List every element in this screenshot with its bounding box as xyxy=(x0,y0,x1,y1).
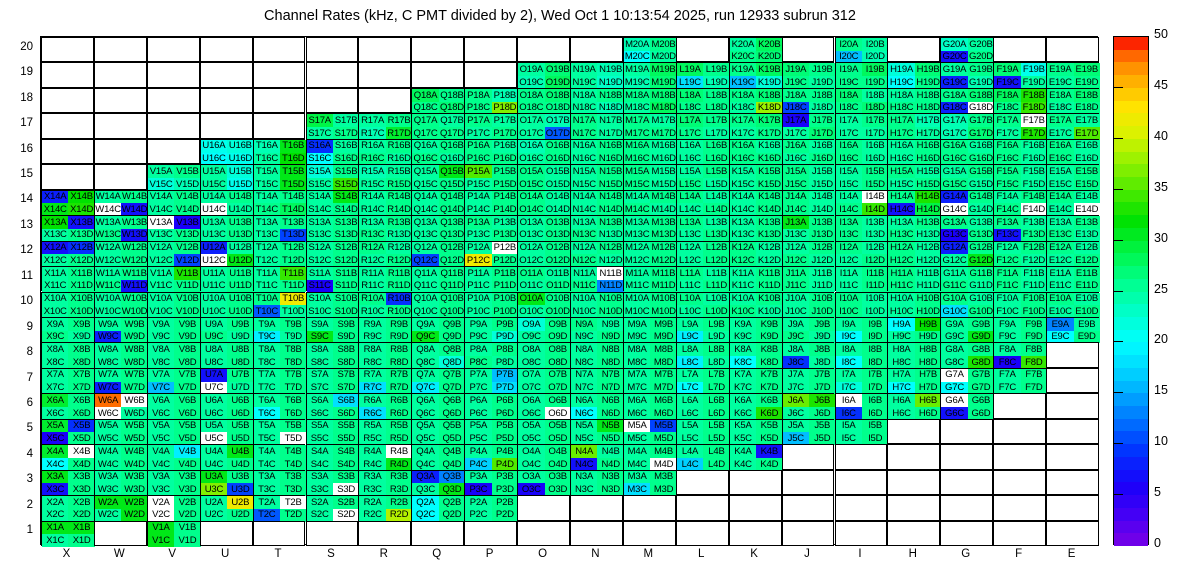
heatmap-subcell[interactable]: J5A xyxy=(783,420,809,433)
heatmap-subcell[interactable]: R12B xyxy=(386,242,412,255)
heatmap-subcell[interactable]: X13A xyxy=(42,216,68,229)
heatmap-subcell[interactable]: T8B xyxy=(280,343,306,356)
heatmap-subcell[interactable]: H18B xyxy=(915,89,941,102)
heatmap-subcell[interactable]: I18B xyxy=(862,89,888,102)
heatmap-tile[interactable]: N6AN6BN6CN6D xyxy=(570,393,623,418)
heatmap-subcell[interactable]: X5A xyxy=(42,420,68,433)
heatmap-subcell[interactable]: F13A xyxy=(994,216,1020,229)
heatmap-subcell[interactable]: G12A xyxy=(941,242,967,255)
heatmap-subcell[interactable]: U3B xyxy=(227,471,253,484)
heatmap-subcell[interactable]: E15A xyxy=(1047,165,1073,178)
heatmap-tile[interactable]: J8AJ8BJ8CJ8D xyxy=(782,342,835,367)
heatmap-subcell[interactable]: E16A xyxy=(1047,140,1073,153)
heatmap-subcell[interactable]: X4A xyxy=(42,445,68,458)
heatmap-subcell[interactable]: M10B xyxy=(650,293,676,306)
heatmap-tile[interactable]: V6AV6BV6CV6D xyxy=(147,393,200,418)
heatmap-subcell[interactable]: S5A xyxy=(307,420,333,433)
heatmap-tile[interactable]: L14AL14BL14CL14D xyxy=(676,190,729,215)
heatmap-tile[interactable]: G10AG10BG10CG10D xyxy=(940,292,993,317)
heatmap-subcell[interactable]: H10B xyxy=(915,293,941,306)
heatmap-subcell[interactable]: S14B xyxy=(333,191,359,204)
heatmap-tile[interactable]: H10AH10BH10CH10D xyxy=(887,292,940,317)
heatmap-subcell[interactable]: O14A xyxy=(518,191,544,204)
heatmap-tile[interactable]: K17AK17BK17CK17D xyxy=(729,113,782,138)
heatmap-tile[interactable]: Q9AQ9BQ9CQ9D xyxy=(411,317,464,342)
heatmap-tile[interactable]: E17AE17BE17CE17D xyxy=(1046,113,1099,138)
heatmap-subcell[interactable]: T10A xyxy=(254,293,280,306)
heatmap-subcell[interactable]: S14A xyxy=(307,191,333,204)
heatmap-tile[interactable]: U3AU3BU3CU3D xyxy=(200,470,253,495)
heatmap-subcell[interactable]: S15A xyxy=(307,165,333,178)
heatmap-subcell[interactable]: G14A xyxy=(941,191,967,204)
heatmap-tile[interactable]: Q5AQ5BQ5CQ5D xyxy=(411,419,464,444)
heatmap-subcell[interactable]: N16A xyxy=(571,140,597,153)
heatmap-tile[interactable]: W12AW12BW12CW12D xyxy=(94,241,147,266)
heatmap-subcell[interactable]: M11B xyxy=(650,267,676,280)
heatmap-subcell[interactable]: L16A xyxy=(677,140,703,153)
heatmap-subcell[interactable]: J19A xyxy=(783,63,809,76)
heatmap-subcell[interactable]: W2A xyxy=(95,496,121,509)
heatmap-subcell[interactable]: S17A xyxy=(307,114,333,127)
heatmap-subcell[interactable]: V8A xyxy=(148,343,174,356)
heatmap-subcell[interactable]: O10B xyxy=(545,293,571,306)
heatmap-subcell[interactable]: S8A xyxy=(307,343,333,356)
heatmap-subcell[interactable]: K10B xyxy=(756,293,782,306)
heatmap-subcell[interactable]: V14B xyxy=(174,191,200,204)
heatmap-subcell[interactable]: O5A xyxy=(518,420,544,433)
heatmap-tile[interactable]: H7AH7BH7CH7D xyxy=(887,368,940,393)
heatmap-subcell[interactable]: V8B xyxy=(174,343,200,356)
heatmap-subcell[interactable]: H14B xyxy=(915,191,941,204)
heatmap-subcell[interactable]: H13B xyxy=(915,216,941,229)
heatmap-tile[interactable]: U7AU7BU7CU7D xyxy=(200,368,253,393)
heatmap-tile[interactable]: U14AU14BU14CU14D xyxy=(200,190,253,215)
heatmap-tile[interactable]: P13AP13BP13CP13D xyxy=(464,215,517,240)
heatmap-tile[interactable]: X13AX13BX13CX13D xyxy=(41,215,94,240)
heatmap-subcell[interactable]: X6A xyxy=(42,394,68,407)
heatmap-tile[interactable]: O6AO6BO6CO6D xyxy=(517,393,570,418)
heatmap-subcell[interactable]: G12B xyxy=(968,242,994,255)
heatmap-subcell[interactable]: M17B xyxy=(650,114,676,127)
heatmap-subcell[interactable]: I20B xyxy=(862,38,888,51)
heatmap-subcell[interactable]: Q10A xyxy=(412,293,438,306)
heatmap-tile[interactable]: S9AS9BS9CS9D xyxy=(306,317,359,342)
heatmap-subcell[interactable]: U5B xyxy=(227,420,253,433)
heatmap-subcell[interactable]: F19A xyxy=(994,63,1020,76)
heatmap-subcell[interactable]: M15A xyxy=(624,165,650,178)
heatmap-tile[interactable]: K18AK18BK18CK18D xyxy=(729,88,782,113)
heatmap-subcell[interactable]: W3B xyxy=(121,471,147,484)
heatmap-tile[interactable]: Q10AQ10BQ10CQ10D xyxy=(411,292,464,317)
heatmap-tile[interactable]: J9AJ9BJ9CJ9D xyxy=(782,317,835,342)
heatmap-subcell[interactable]: R4B xyxy=(386,445,412,458)
heatmap-subcell[interactable]: K15B xyxy=(756,165,782,178)
heatmap-subcell[interactable]: P4B xyxy=(492,445,518,458)
heatmap-tile[interactable]: M4AM4BM4CM4D xyxy=(623,444,676,469)
heatmap-subcell[interactable]: E10A xyxy=(1047,293,1073,306)
heatmap-subcell[interactable]: V12A xyxy=(148,242,174,255)
heatmap-tile[interactable]: P6AP6BP6CP6D xyxy=(464,393,517,418)
heatmap-subcell[interactable]: S10B xyxy=(333,293,359,306)
heatmap-subcell[interactable]: V6A xyxy=(148,394,174,407)
heatmap-subcell[interactable]: R14A xyxy=(359,191,385,204)
heatmap-tile[interactable]: M3AM3BM3CM3D xyxy=(623,470,676,495)
heatmap-subcell[interactable]: I19A xyxy=(836,63,862,76)
heatmap-subcell[interactable]: S7B xyxy=(333,369,359,382)
heatmap-tile[interactable]: X3AX3BX3CX3D xyxy=(41,470,94,495)
heatmap-tile[interactable]: N16AN16BN16CN16D xyxy=(570,139,623,164)
heatmap-subcell[interactable]: X2B xyxy=(68,496,94,509)
heatmap-tile[interactable]: R12AR12BR12CR12D xyxy=(358,241,411,266)
heatmap-subcell[interactable]: E14A xyxy=(1047,191,1073,204)
heatmap-subcell[interactable]: U4A xyxy=(201,445,227,458)
heatmap-subcell[interactable]: P17B xyxy=(492,114,518,127)
heatmap-subcell[interactable]: X8B xyxy=(68,343,94,356)
heatmap-tile[interactable]: M16AM16BM16CM16D xyxy=(623,139,676,164)
heatmap-subcell[interactable]: I10B xyxy=(862,293,888,306)
heatmap-subcell[interactable]: J16A xyxy=(783,140,809,153)
heatmap-tile[interactable]: G8AG8BG8CG8D xyxy=(940,342,993,367)
heatmap-tile[interactable]: X9AX9BX9CX9D xyxy=(41,317,94,342)
heatmap-subcell[interactable]: O12A xyxy=(518,242,544,255)
heatmap-subcell[interactable]: N18B xyxy=(597,89,623,102)
heatmap-tile[interactable]: W4AW4BW4CW4D xyxy=(94,444,147,469)
heatmap-subcell[interactable]: T3A xyxy=(254,471,280,484)
heatmap-subcell[interactable]: Q3B xyxy=(439,471,465,484)
heatmap-subcell[interactable]: W3A xyxy=(95,471,121,484)
heatmap-subcell[interactable]: P3A xyxy=(465,471,491,484)
heatmap-subcell[interactable]: H9B xyxy=(915,318,941,331)
heatmap-subcell[interactable]: R8A xyxy=(359,343,385,356)
heatmap-subcell[interactable]: K19A xyxy=(730,63,756,76)
heatmap-tile[interactable]: O7AO7BO7CO7D xyxy=(517,368,570,393)
heatmap-subcell[interactable]: I14A xyxy=(836,191,862,204)
heatmap-tile[interactable]: E9AE9BE9CE9D xyxy=(1046,317,1099,342)
heatmap-subcell[interactable]: J17B xyxy=(809,114,835,127)
heatmap-subcell[interactable]: Q7A xyxy=(412,369,438,382)
heatmap-subcell[interactable]: I13B xyxy=(862,216,888,229)
heatmap-tile[interactable]: W2AW2BW2CW2D xyxy=(94,495,147,520)
heatmap-subcell[interactable]: R12A xyxy=(359,242,385,255)
heatmap-subcell[interactable]: P7B xyxy=(492,369,518,382)
heatmap-subcell[interactable]: P18B xyxy=(492,89,518,102)
heatmap-tile[interactable]: S15AS15BS15CS15D xyxy=(306,164,359,189)
heatmap-subcell[interactable]: M18B xyxy=(650,89,676,102)
heatmap-tile[interactable]: S16AS16BS16CS16D xyxy=(306,139,359,164)
heatmap-tile[interactable]: K12AK12BK12CK12D xyxy=(729,241,782,266)
heatmap-subcell[interactable]: U9B xyxy=(227,318,253,331)
heatmap-subcell[interactable]: M13B xyxy=(650,216,676,229)
heatmap-tile[interactable]: J10AJ10BJ10CJ10D xyxy=(782,292,835,317)
heatmap-tile[interactable]: J14AJ14BJ14CJ14D xyxy=(782,190,835,215)
heatmap-subcell[interactable]: O4A xyxy=(518,445,544,458)
heatmap-subcell[interactable]: V9A xyxy=(148,318,174,331)
heatmap-subcell[interactable]: O7A xyxy=(518,369,544,382)
heatmap-tile[interactable]: O11AO11BO11CO11D xyxy=(517,266,570,291)
heatmap-subcell[interactable]: L11B xyxy=(703,267,729,280)
heatmap-subcell[interactable]: N19A xyxy=(571,63,597,76)
heatmap-subcell[interactable]: V4A xyxy=(148,445,174,458)
heatmap-tile[interactable]: W9AW9BW9CW9D xyxy=(94,317,147,342)
heatmap-tile[interactable]: Q13AQ13BQ13CQ13D xyxy=(411,215,464,240)
heatmap-tile[interactable]: E19AE19BE19CE19D xyxy=(1046,62,1099,87)
heatmap-subcell[interactable]: O18A xyxy=(518,89,544,102)
heatmap-subcell[interactable]: J6A xyxy=(783,394,809,407)
heatmap-tile[interactable]: R7AR7BR7CR7D xyxy=(358,368,411,393)
heatmap-subcell[interactable]: J14B xyxy=(809,191,835,204)
heatmap-tile[interactable]: N8AN8BN8CN8D xyxy=(570,342,623,367)
heatmap-subcell[interactable]: L9A xyxy=(677,318,703,331)
heatmap-subcell[interactable]: P13B xyxy=(492,216,518,229)
heatmap-subcell[interactable]: H8B xyxy=(915,343,941,356)
heatmap-subcell[interactable]: E11A xyxy=(1047,267,1073,280)
heatmap-tile[interactable]: M10AM10BM10CM10D xyxy=(623,292,676,317)
heatmap-subcell[interactable]: E18A xyxy=(1047,89,1073,102)
heatmap-subcell[interactable]: K20B xyxy=(756,38,782,51)
heatmap-subcell[interactable]: J15B xyxy=(809,165,835,178)
heatmap-subcell[interactable]: K13B xyxy=(756,216,782,229)
heatmap-subcell[interactable]: U12B xyxy=(227,242,253,255)
heatmap-subcell[interactable]: N17A xyxy=(571,114,597,127)
heatmap-subcell[interactable]: L9B xyxy=(703,318,729,331)
heatmap-subcell[interactable]: J18B xyxy=(809,89,835,102)
heatmap-tile[interactable]: J17AJ17BJ17CJ17D xyxy=(782,113,835,138)
heatmap-subcell[interactable]: Q8B xyxy=(439,343,465,356)
heatmap-tile[interactable]: P4AP4BP4CP4D xyxy=(464,444,517,469)
heatmap-tile[interactable]: H14AH14BH14CH14D xyxy=(887,190,940,215)
heatmap-subcell[interactable]: H7B xyxy=(915,369,941,382)
heatmap-tile[interactable]: U11AU11BU11CU11D xyxy=(200,266,253,291)
heatmap-tile[interactable]: P16AP16BP16CP16D xyxy=(464,139,517,164)
heatmap-subcell[interactable]: G17A xyxy=(941,114,967,127)
heatmap-tile[interactable]: M8AM8BM8CM8D xyxy=(623,342,676,367)
heatmap-subcell[interactable]: R9B xyxy=(386,318,412,331)
heatmap-subcell[interactable]: X11B xyxy=(68,267,94,280)
heatmap-subcell[interactable]: E16B xyxy=(1074,140,1100,153)
heatmap-subcell[interactable]: Q2B xyxy=(439,496,465,509)
heatmap-subcell[interactable]: V1A xyxy=(148,522,174,535)
heatmap-tile[interactable]: F11AF11BF11CF11D xyxy=(993,266,1046,291)
heatmap-subcell[interactable]: V13A xyxy=(148,216,174,229)
heatmap-tile[interactable]: L8AL8BL8CL8D xyxy=(676,342,729,367)
heatmap-subcell[interactable]: F18A xyxy=(994,89,1020,102)
heatmap-subcell[interactable]: J8A xyxy=(783,343,809,356)
heatmap-tile[interactable]: U15AU15BU15CU15D xyxy=(200,164,253,189)
heatmap-subcell[interactable]: U14B xyxy=(227,191,253,204)
heatmap-subcell[interactable]: H6A xyxy=(888,394,914,407)
heatmap-tile[interactable]: S13AS13BS13CS13D xyxy=(306,215,359,240)
heatmap-tile[interactable]: X12AX12BX12CX12D xyxy=(41,241,94,266)
heatmap-subcell[interactable]: H15B xyxy=(915,165,941,178)
heatmap-tile[interactable]: F14AF14BF14CF14D xyxy=(993,190,1046,215)
heatmap-subcell[interactable]: W2B xyxy=(121,496,147,509)
heatmap-tile[interactable]: R5AR5BR5CR5D xyxy=(358,419,411,444)
heatmap-subcell[interactable]: Q13A xyxy=(412,216,438,229)
heatmap-tile[interactable]: J18AJ18BJ18CJ18D xyxy=(782,88,835,113)
heatmap-tile[interactable]: O16AO16BO16CO16D xyxy=(517,139,570,164)
heatmap-tile[interactable]: V5AV5BV5CV5D xyxy=(147,419,200,444)
heatmap-tile[interactable]: X5AX5BX5CX5D xyxy=(41,419,94,444)
heatmap-subcell[interactable]: U5A xyxy=(201,420,227,433)
heatmap-tile[interactable]: I6AI6BI6CI6D xyxy=(835,393,888,418)
heatmap-subcell[interactable]: W6A xyxy=(95,394,121,407)
heatmap-subcell[interactable]: N17B xyxy=(597,114,623,127)
heatmap-subcell[interactable]: L13A xyxy=(677,216,703,229)
heatmap-tile[interactable]: J11AJ11BJ11CJ11D xyxy=(782,266,835,291)
heatmap-subcell[interactable]: V5A xyxy=(148,420,174,433)
heatmap-tile[interactable]: N14AN14BN14CN14D xyxy=(570,190,623,215)
heatmap-tile[interactable]: X14AX14BX14CX14D xyxy=(41,190,94,215)
heatmap-subcell[interactable]: I17A xyxy=(836,114,862,127)
heatmap-tile[interactable]: N17AN17BN17CN17D xyxy=(570,113,623,138)
heatmap-subcell[interactable]: F16A xyxy=(994,140,1020,153)
heatmap-subcell[interactable]: X13B xyxy=(68,216,94,229)
heatmap-subcell[interactable]: R6B xyxy=(386,394,412,407)
heatmap-subcell[interactable]: S15B xyxy=(333,165,359,178)
heatmap-subcell[interactable]: L12A xyxy=(677,242,703,255)
heatmap-subcell[interactable]: U15A xyxy=(201,165,227,178)
heatmap-subcell[interactable]: J14A xyxy=(783,191,809,204)
heatmap-tile[interactable]: V12AV12BV12CV12D xyxy=(147,241,200,266)
heatmap-subcell[interactable]: V10B xyxy=(174,293,200,306)
heatmap-tile[interactable]: R15AR15BR15CR15D xyxy=(358,164,411,189)
heatmap-tile[interactable]: J15AJ15BJ15CJ15D xyxy=(782,164,835,189)
heatmap-subcell[interactable]: R7A xyxy=(359,369,385,382)
heatmap-tile[interactable]: W7AW7BW7CW7D xyxy=(94,368,147,393)
heatmap-subcell[interactable]: H15A xyxy=(888,165,914,178)
heatmap-subcell[interactable]: I13A xyxy=(836,216,862,229)
heatmap-subcell[interactable]: L19A xyxy=(677,63,703,76)
heatmap-tile[interactable]: O17AO17BO17CO17D xyxy=(517,113,570,138)
heatmap-subcell[interactable]: J16B xyxy=(809,140,835,153)
heatmap-tile[interactable]: L13AL13BL13CL13D xyxy=(676,215,729,240)
heatmap-subcell[interactable]: M16B xyxy=(650,140,676,153)
heatmap-subcell[interactable]: M9A xyxy=(624,318,650,331)
heatmap-subcell[interactable]: J12A xyxy=(783,242,809,255)
heatmap-subcell[interactable]: O19A xyxy=(518,63,544,76)
heatmap-subcell[interactable]: L5B xyxy=(703,420,729,433)
heatmap-subcell[interactable]: I16A xyxy=(836,140,862,153)
heatmap-tile[interactable]: K10AK10BK10CK10D xyxy=(729,292,782,317)
heatmap-subcell[interactable]: K5B xyxy=(756,420,782,433)
heatmap-tile[interactable]: W5AW5BW5CW5D xyxy=(94,419,147,444)
heatmap-subcell[interactable]: M15B xyxy=(650,165,676,178)
heatmap-subcell[interactable]: T12B xyxy=(280,242,306,255)
heatmap-subcell[interactable]: O15A xyxy=(518,165,544,178)
heatmap-subcell[interactable]: U3A xyxy=(201,471,227,484)
heatmap-tile[interactable]: Q17AQ17BQ17CQ17D xyxy=(411,113,464,138)
heatmap-tile[interactable]: K14AK14BK14CK14D xyxy=(729,190,782,215)
heatmap-tile[interactable]: N7AN7BN7CN7D xyxy=(570,368,623,393)
heatmap-tile[interactable]: O10AO10BO10CO10D xyxy=(517,292,570,317)
heatmap-subcell[interactable]: H12B xyxy=(915,242,941,255)
heatmap-subcell[interactable]: P14B xyxy=(492,191,518,204)
heatmap-subcell[interactable]: U7A xyxy=(201,369,227,382)
heatmap-subcell[interactable]: K17B xyxy=(756,114,782,127)
heatmap-subcell[interactable]: O17A xyxy=(518,114,544,127)
heatmap-subcell[interactable]: I6B xyxy=(862,394,888,407)
heatmap-subcell[interactable]: O17B xyxy=(545,114,571,127)
heatmap-tile[interactable]: G7AG7BG7CG7D xyxy=(940,368,993,393)
heatmap-subcell[interactable]: P11B xyxy=(492,267,518,280)
heatmap-tile[interactable]: U12AU12BU12CU12D xyxy=(200,241,253,266)
heatmap-subcell[interactable]: Q5A xyxy=(412,420,438,433)
heatmap-subcell[interactable]: K8B xyxy=(756,343,782,356)
heatmap-subcell[interactable]: O9A xyxy=(518,318,544,331)
heatmap-tile[interactable]: P14AP14BP14CP14D xyxy=(464,190,517,215)
heatmap-subcell[interactable]: P11A xyxy=(465,267,491,280)
heatmap-subcell[interactable]: U16B xyxy=(227,140,253,153)
heatmap-subcell[interactable]: P15B xyxy=(492,165,518,178)
heatmap-tile[interactable]: E16AE16BE16CE16D xyxy=(1046,139,1099,164)
heatmap-subcell[interactable]: E14B xyxy=(1074,191,1100,204)
heatmap-subcell[interactable]: K4A xyxy=(730,445,756,458)
heatmap-subcell[interactable]: I5A xyxy=(836,420,862,433)
heatmap-subcell[interactable]: P4A xyxy=(465,445,491,458)
heatmap-subcell[interactable]: W8B xyxy=(121,343,147,356)
heatmap-subcell[interactable]: W5A xyxy=(95,420,121,433)
heatmap-subcell[interactable]: R4A xyxy=(359,445,385,458)
heatmap-subcell[interactable]: U11A xyxy=(201,267,227,280)
heatmap-subcell[interactable]: R10B xyxy=(386,293,412,306)
heatmap-subcell[interactable]: E17B xyxy=(1074,114,1100,127)
heatmap-subcell[interactable]: S5B xyxy=(333,420,359,433)
heatmap-tile[interactable]: H19AH19BH19CH19D xyxy=(887,62,940,87)
heatmap-subcell[interactable]: R8B xyxy=(386,343,412,356)
heatmap-tile[interactable]: P18AP18BP18CP18D xyxy=(464,88,517,113)
heatmap-tile[interactable]: X10AX10BX10CX10D xyxy=(41,292,94,317)
heatmap-subcell[interactable]: L14A xyxy=(677,191,703,204)
heatmap-tile[interactable]: E13AE13BE13CE13D xyxy=(1046,215,1099,240)
heatmap-subcell[interactable]: R6A xyxy=(359,394,385,407)
heatmap-tile[interactable]: X11AX11BX11CX11D xyxy=(41,266,94,291)
heatmap-tile[interactable]: K5AK5BK5CK5D xyxy=(729,419,782,444)
heatmap-tile[interactable]: F19AF19BF19CF19D xyxy=(993,62,1046,87)
heatmap-tile[interactable]: V3AV3BV3CV3D xyxy=(147,470,200,495)
heatmap-tile[interactable]: O9AO9BO9CO9D xyxy=(517,317,570,342)
heatmap-subcell[interactable]: T7B xyxy=(280,369,306,382)
heatmap-subcell[interactable]: Q11A xyxy=(412,267,438,280)
heatmap-subcell[interactable]: H11A xyxy=(888,267,914,280)
heatmap-subcell[interactable]: N19B xyxy=(597,63,623,76)
heatmap-subcell[interactable]: O11A xyxy=(518,267,544,280)
heatmap-subcell[interactable]: H13A xyxy=(888,216,914,229)
heatmap-subcell[interactable]: I9B xyxy=(862,318,888,331)
heatmap-subcell[interactable]: X3B xyxy=(68,471,94,484)
heatmap-tile[interactable]: G16AG16BG16CG16D xyxy=(940,139,993,164)
heatmap-subcell[interactable]: N9B xyxy=(597,318,623,331)
heatmap-subcell[interactable]: J15A xyxy=(783,165,809,178)
heatmap-subcell[interactable]: N8A xyxy=(571,343,597,356)
heatmap-subcell[interactable]: M19A xyxy=(624,63,650,76)
heatmap-tile[interactable]: S12AS12BS12CS12D xyxy=(306,241,359,266)
heatmap-subcell[interactable]: O11B xyxy=(545,267,571,280)
heatmap-subcell[interactable]: G13A xyxy=(941,216,967,229)
heatmap-subcell[interactable]: J8B xyxy=(809,343,835,356)
heatmap-subcell[interactable]: F14A xyxy=(994,191,1020,204)
heatmap-subcell[interactable]: W4A xyxy=(95,445,121,458)
heatmap-subcell[interactable]: M6B xyxy=(650,394,676,407)
heatmap-subcell[interactable]: I5B xyxy=(862,420,888,433)
heatmap-tile[interactable]: F7AF7BF7CF7D xyxy=(993,368,1046,393)
heatmap-subcell[interactable]: P6B xyxy=(492,394,518,407)
heatmap-subcell[interactable]: H10A xyxy=(888,293,914,306)
heatmap-tile[interactable]: G18AG18BG18CG18D xyxy=(940,88,993,113)
heatmap-subcell[interactable]: N13A xyxy=(571,216,597,229)
heatmap-tile[interactable]: I16AI16BI16CI16D xyxy=(835,139,888,164)
heatmap-subcell[interactable]: P6A xyxy=(465,394,491,407)
heatmap-subcell[interactable]: W12A xyxy=(95,242,121,255)
